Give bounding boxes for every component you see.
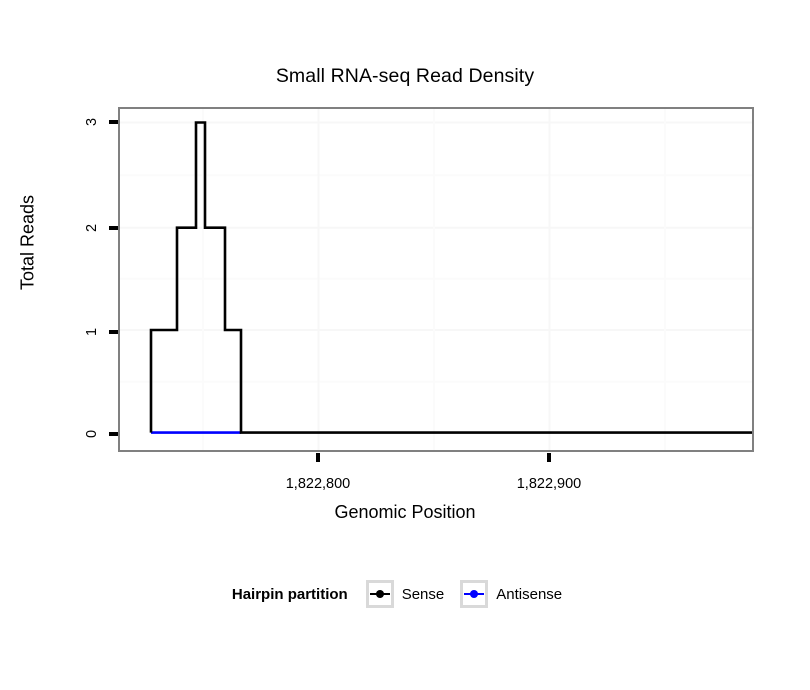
y-tick-mark-1	[109, 330, 118, 334]
chart-figure: Small RNA-seq Read Density Total Reads 3…	[0, 0, 810, 690]
y-tick-label-1: 1	[84, 320, 100, 344]
y-tick-mark-2	[109, 226, 118, 230]
y-tick-label-0: 0	[84, 422, 100, 446]
y-tick-label-3: 3	[84, 110, 100, 134]
plot-panel	[118, 107, 754, 452]
x-tick-mark-0	[316, 453, 320, 462]
chart-legend: Hairpin partition Sense Antisense	[0, 580, 810, 608]
plot-area	[120, 109, 752, 450]
chart-title: Small RNA-seq Read Density	[0, 64, 810, 88]
legend-key-sense-icon	[366, 580, 394, 608]
y-tick-label-2: 2	[84, 216, 100, 240]
legend-title: Hairpin partition	[232, 586, 348, 603]
x-tick-mark-1	[547, 453, 551, 462]
y-tick-mark-3	[109, 120, 118, 124]
legend-entry-sense[interactable]: Sense	[366, 580, 445, 608]
x-axis-title: Genomic Position	[0, 502, 810, 523]
x-tick-label-0: 1,822,800	[286, 476, 351, 492]
horizontal-gridlines	[120, 123, 752, 382]
legend-label-antisense: Antisense	[496, 586, 562, 603]
x-tick-label-1: 1,822,900	[517, 476, 582, 492]
y-axis-title: Total Reads	[18, 143, 39, 343]
legend-label-sense: Sense	[402, 586, 445, 603]
y-tick-mark-0	[109, 432, 118, 436]
legend-key-antisense-icon	[460, 580, 488, 608]
series-sense	[151, 123, 752, 433]
legend-entry-antisense[interactable]: Antisense	[460, 580, 562, 608]
